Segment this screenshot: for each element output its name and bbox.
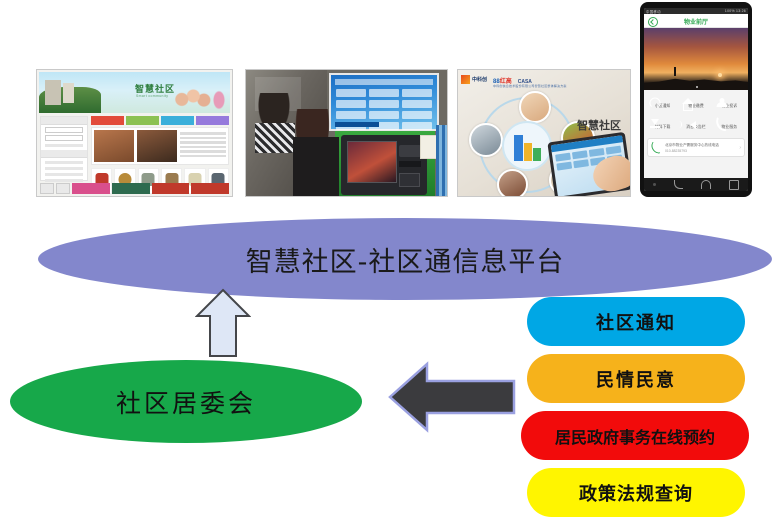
kiosk-keypad xyxy=(399,173,420,187)
hero-sunset-photo xyxy=(644,28,748,90)
hero-tower xyxy=(674,67,676,76)
kiosk-touch-screen xyxy=(347,141,397,183)
menu-dot-icon[interactable] xyxy=(653,183,656,186)
tab-merchants xyxy=(161,116,194,125)
news-thumb xyxy=(94,130,134,162)
app-tile-service[interactable]: 物业服务 xyxy=(714,115,745,133)
building-yellow xyxy=(524,143,532,161)
kiosk-slot xyxy=(399,161,421,167)
news-thumb xyxy=(137,130,177,162)
platform-ellipse[interactable]: 智慧社区-社区通信息平台 xyxy=(38,218,772,300)
logo-mark-icon xyxy=(461,75,470,84)
news-text-lines xyxy=(180,130,226,162)
arrow-left-icon xyxy=(387,361,517,433)
app-tile-notice[interactable]: 小区通知 xyxy=(647,94,678,112)
logo-text: 中科创 xyxy=(472,76,487,83)
password-field xyxy=(45,135,83,141)
service-pill-booking[interactable]: 居民政府事务在线预约 xyxy=(521,411,749,460)
android-nav-bar xyxy=(644,178,748,191)
building-green xyxy=(533,148,541,161)
person-two xyxy=(289,109,341,197)
tab-services xyxy=(126,116,159,125)
hotline-row[interactable]: 北京市物业产需服务中心热线电话 010-88235793 › xyxy=(647,138,745,157)
kiosk-wall-display xyxy=(329,73,439,131)
menu-item xyxy=(45,161,83,164)
tab-notices xyxy=(196,116,229,125)
sun-icon xyxy=(718,73,722,77)
hotline-text: 北京市物业产需服务中心热线电话 010-88235793 xyxy=(665,143,736,153)
app-icon-grid: 小区通知 物业缴费 物业投诉 材料下载 消息公告栏 xyxy=(644,90,748,135)
hotline-number: 010-88235793 xyxy=(665,149,736,153)
website-sidebar xyxy=(40,116,88,181)
diagram-node-housing xyxy=(469,123,503,157)
carousel-dot[interactable] xyxy=(696,86,698,88)
hotline-title: 北京市物业产需服务中心热线电话 xyxy=(665,143,736,148)
kiosk-card-reader xyxy=(399,145,421,157)
smart-community-diagram: 中科创 88红高 CASA 中科创信息技术股份有限公司智慧社区整体解决方案 智慧… xyxy=(457,69,631,197)
diagram-node-property xyxy=(497,169,528,197)
menu-header xyxy=(41,150,87,158)
banner-subtitle: Smart community xyxy=(136,94,168,98)
app-tile-payment[interactable]: 物业缴费 xyxy=(680,94,711,112)
website-footer-banners xyxy=(40,183,229,194)
phone-screen: 中国移动 100% 13:26 物业前厅 小区通知 物业 xyxy=(644,8,748,191)
slide-canvas: 智慧社区 Smart community xyxy=(0,0,780,526)
arrow-up-icon xyxy=(195,288,251,358)
platform-label: 智慧社区-社区通信息平台 xyxy=(246,240,565,279)
diagram-title: 智慧社区 xyxy=(577,117,621,133)
menu-item xyxy=(45,173,83,176)
chevron-right-icon: › xyxy=(739,145,741,151)
mobile-app-phone-mockup: 中国移动 100% 13:26 物业前厅 小区通知 物业 xyxy=(640,2,752,197)
recents-nav-icon[interactable] xyxy=(729,180,739,190)
footer-icon xyxy=(40,183,54,194)
service-pill-label: 民情民意 xyxy=(596,366,676,392)
website-tabs xyxy=(91,116,229,125)
display-header xyxy=(335,79,433,85)
app-tile-download[interactable]: 材料下载 xyxy=(647,115,678,133)
community-website-screenshot: 智慧社区 Smart community xyxy=(36,69,233,197)
app-tile-complaint[interactable]: 物业投诉 xyxy=(714,94,745,112)
home-nav-icon[interactable] xyxy=(701,180,711,189)
banner-flower xyxy=(212,89,226,111)
service-pill-label: 居民政府事务在线预约 xyxy=(555,424,715,448)
banner-building-2 xyxy=(63,83,74,103)
footer-banner xyxy=(112,183,150,194)
logo-zhongkechuang: 中科创 xyxy=(461,75,487,84)
building-blue xyxy=(514,135,523,161)
footer-icon xyxy=(56,183,70,194)
background-booth xyxy=(436,125,448,197)
menu-item xyxy=(45,167,83,170)
service-pill-label: 社区通知 xyxy=(596,309,676,335)
service-pill-label: 政策法规查询 xyxy=(579,480,693,506)
committee-ellipse[interactable]: 社区居委会 xyxy=(10,360,362,443)
website-news-block xyxy=(91,127,229,165)
display-grid xyxy=(336,89,432,119)
website-banner: 智慧社区 Smart community xyxy=(39,72,230,113)
app-tile-bulletin[interactable]: 消息公告栏 xyxy=(680,115,711,133)
app-header: 物业前厅 xyxy=(644,14,748,28)
diagram-center-buildings xyxy=(502,121,552,171)
kiosk-control-panel xyxy=(341,135,427,195)
service-pill-policy[interactable]: 政策法规查询 xyxy=(527,468,745,517)
committee-label: 社区居委会 xyxy=(116,384,256,420)
phone-icon xyxy=(650,141,663,154)
back-nav-icon[interactable] xyxy=(674,180,683,189)
tab-news xyxy=(91,116,124,125)
self-service-kiosk-photo xyxy=(245,69,448,197)
app-title: 物业前厅 xyxy=(644,17,748,26)
menu-item xyxy=(45,179,83,182)
footer-banner xyxy=(72,183,110,194)
display-footer xyxy=(335,122,379,127)
service-pill-notice[interactable]: 社区通知 xyxy=(527,297,745,346)
banner-building xyxy=(45,80,61,105)
footer-banner xyxy=(191,183,229,194)
footer-banner xyxy=(152,183,190,194)
account-field xyxy=(45,127,83,133)
diagram-subtitle: 中科创信息技术股份有限公司智慧社区整体解决方案 xyxy=(493,84,567,88)
battery-clock-label: 100% 13:26 xyxy=(725,9,746,13)
login-header xyxy=(41,117,87,125)
login-buttons xyxy=(45,144,83,147)
diagram-node-health xyxy=(519,91,551,123)
service-pill-opinion[interactable]: 民情民意 xyxy=(527,354,745,403)
